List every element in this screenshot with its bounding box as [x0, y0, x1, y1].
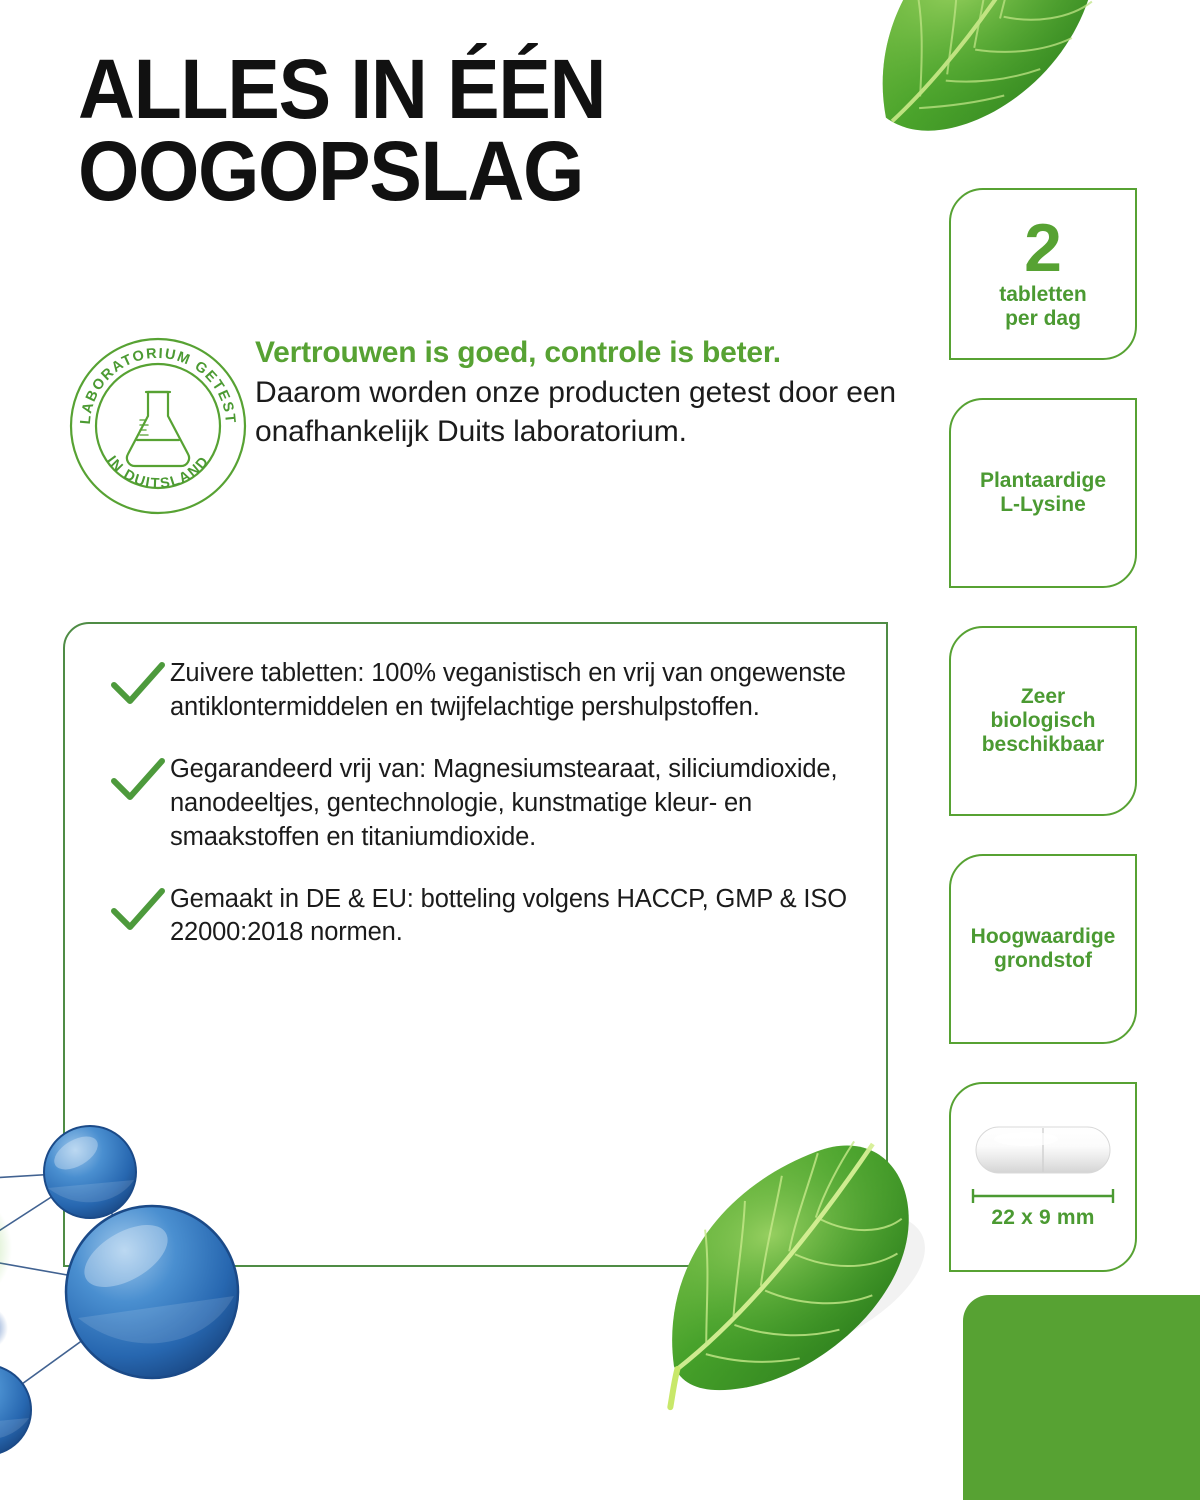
card-line-2: grondstof: [971, 949, 1116, 973]
card-bioavailability: Zeer biologisch beschikbaar: [949, 626, 1137, 816]
card-line-3: beschikbaar: [982, 733, 1105, 757]
page-title: ALLES IN ÉÉN OOGOPSLAG: [78, 48, 792, 213]
card-line-1: Plantaardige: [980, 469, 1106, 493]
dosage-number: 2: [1024, 218, 1062, 279]
badge-arc-bottom-text: IN DUITSLAND: [103, 453, 213, 492]
molecule-icon: [0, 1060, 310, 1500]
card-dosage: 2 tabletten per dag: [949, 188, 1137, 360]
poster-root: ALLES IN ÉÉN OOGOPSLAG LABORATORIUM GETE…: [0, 0, 1200, 1500]
atom-sphere-large: [66, 1206, 238, 1378]
erlenmeyer-flask-icon: [127, 392, 189, 466]
check-icon: [108, 661, 170, 707]
bottom-green-block: [963, 1295, 1200, 1500]
list-item: Zuivere tabletten: 100% veganistisch en …: [108, 655, 868, 725]
trust-body: Daarom worden onze producten getest door…: [255, 373, 915, 452]
trust-headline: Vertrouwen is goed, controle is beter.: [255, 336, 915, 371]
dosage-label-line-2: per dag: [999, 307, 1087, 331]
check-icon: [108, 757, 170, 803]
capsule-icon: [974, 1124, 1112, 1176]
card-line-1: Hoogwaardige: [971, 925, 1116, 949]
green-glow: [0, 1188, 12, 1308]
card-plant-based-label: Plantaardige L-Lysine: [974, 469, 1112, 517]
card-raw-material-label: Hoogwaardige grondstof: [965, 925, 1122, 973]
card-line-2: L-Lysine: [980, 493, 1106, 517]
list-item: Gegarandeerd vrij van: Magnesiumstearaat…: [108, 751, 868, 855]
blue-glow: [0, 1306, 8, 1350]
list-item-label: Gegarandeerd vrij van: Magnesiumstearaat…: [170, 751, 868, 855]
title-line-2: OOGOPSLAG: [78, 130, 792, 212]
card-plant-based: Plantaardige L-Lysine: [949, 398, 1137, 588]
title-line-1: ALLES IN ÉÉN: [78, 42, 605, 136]
atom-sphere-small-top: [44, 1126, 136, 1218]
card-line-1: Zeer: [982, 685, 1105, 709]
dosage-label: tabletten per dag: [999, 283, 1087, 330]
card-raw-material: Hoogwaardige grondstof: [949, 854, 1137, 1044]
check-icon: [108, 887, 170, 933]
card-line-2: biologisch: [982, 709, 1105, 733]
card-capsule-size: 22 x 9 mm: [949, 1082, 1137, 1272]
features-list: Zuivere tabletten: 100% veganistisch en …: [108, 655, 868, 950]
badge-arc-top-text: LABORATORIUM GETEST: [78, 346, 238, 425]
list-item-label: Gemaakt in DE & EU: botteling volgens HA…: [170, 881, 868, 951]
trust-text-block: Vertrouwen is goed, controle is beter. D…: [255, 336, 915, 452]
leaf-icon-top: [820, 0, 1200, 132]
leaf-icon-middle: [628, 1132, 958, 1422]
list-item: Gemaakt in DE & EU: botteling volgens HA…: [108, 881, 868, 951]
dosage-label-line-1: tabletten: [999, 283, 1087, 307]
atom-sphere-small-bottom: [0, 1365, 31, 1455]
capsule-dimension-label: 22 x 9 mm: [991, 1206, 1094, 1230]
lab-tested-badge: LABORATORIUM GETEST IN DUITSLAND: [68, 336, 248, 516]
dimension-arrow-icon: [968, 1188, 1118, 1204]
card-bioavailability-label: Zeer biologisch beschikbaar: [976, 685, 1111, 757]
list-item-label: Zuivere tabletten: 100% veganistisch en …: [170, 655, 868, 725]
